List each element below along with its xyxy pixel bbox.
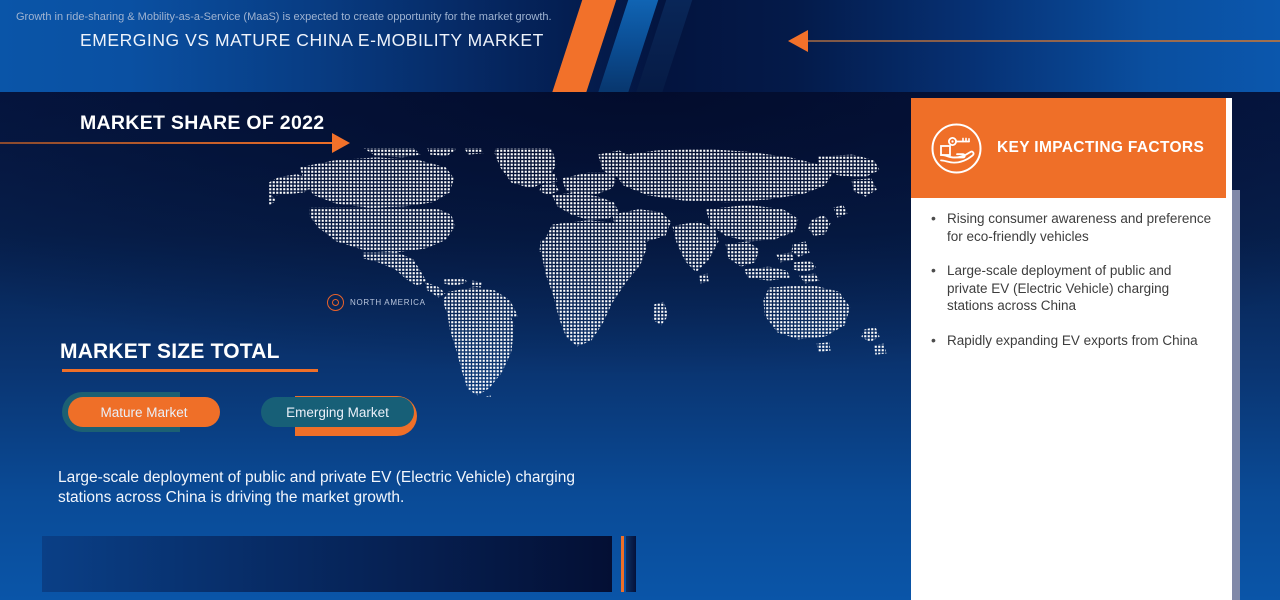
key-factors-panel-shadow xyxy=(1232,190,1240,600)
list-item-text: Rising consumer awareness and preference… xyxy=(947,210,1214,245)
bullet-icon: • xyxy=(929,210,947,245)
market-share-arrow-line xyxy=(0,142,334,144)
list-item: • Large-scale deployment of public and p… xyxy=(929,262,1214,315)
market-size-underline xyxy=(62,369,318,372)
key-factors-header: KEY IMPACTING FACTORS xyxy=(911,98,1226,198)
callout-secondary-bar xyxy=(626,536,636,592)
bullet-icon: • xyxy=(929,262,947,315)
infographic-slide: EMERGING VS MATURE CHINA E-MOBILITY MARK… xyxy=(0,0,1280,600)
list-item-text: Rapidly expanding EV exports from China xyxy=(947,332,1198,350)
bullet-icon: • xyxy=(929,332,947,350)
market-share-title: MARKET SHARE OF 2022 xyxy=(80,112,324,135)
legend-mature-label: Mature Market xyxy=(100,405,187,420)
key-factors-list: • Rising consumer awareness and preferen… xyxy=(911,210,1232,366)
legend-emerging-label: Emerging Market xyxy=(286,405,389,420)
page-title: EMERGING VS MATURE CHINA E-MOBILITY MARK… xyxy=(80,30,544,51)
market-size-title: MARKET SIZE TOTAL xyxy=(60,340,280,364)
map-marker-label: NORTH AMERICA xyxy=(350,298,426,307)
hand-holding-key-icon xyxy=(930,122,983,175)
callout-panel xyxy=(42,536,612,592)
header-arrow-line xyxy=(806,40,1280,42)
list-item-text: Large-scale deployment of public and pri… xyxy=(947,262,1214,315)
list-item: • Rising consumer awareness and preferen… xyxy=(929,210,1214,245)
legend-item-emerging-market[interactable]: Emerging Market xyxy=(261,397,414,427)
lead-paragraph: Large-scale deployment of public and pri… xyxy=(58,468,618,507)
list-item: • Rapidly expanding EV exports from Chin… xyxy=(929,332,1214,350)
map-marker-circle-icon xyxy=(327,294,344,311)
callout-accent-bar xyxy=(621,536,624,592)
key-factors-title: KEY IMPACTING FACTORS xyxy=(997,139,1204,157)
arrow-left-icon xyxy=(788,30,808,52)
dotted-world-map xyxy=(268,148,888,398)
legend-item-mature-market[interactable]: Mature Market xyxy=(68,397,220,427)
callout-text: Growth in ride-sharing & Mobility-as-a-S… xyxy=(16,10,561,26)
